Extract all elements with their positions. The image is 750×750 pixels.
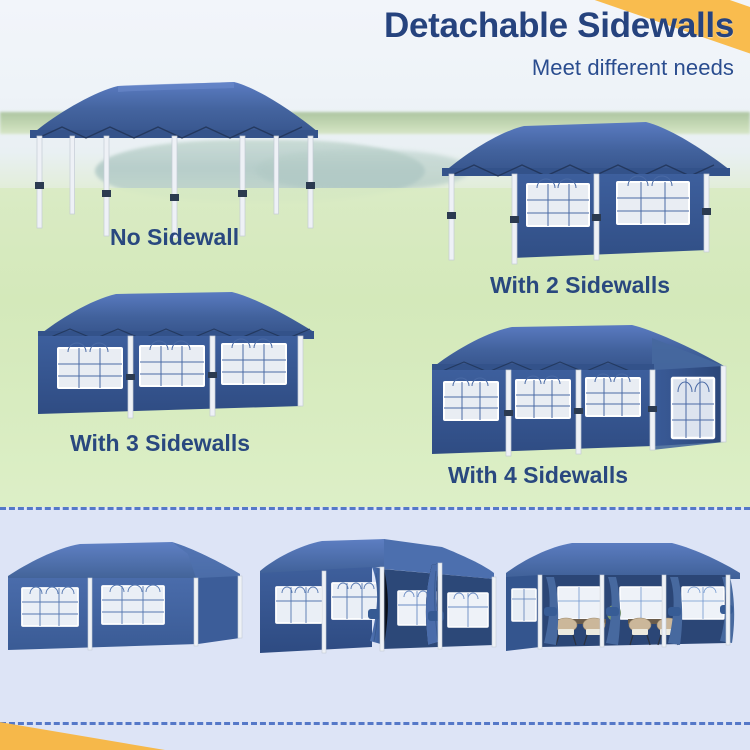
label-3-sidewalls: With 3 Sidewalls [70,430,250,457]
tent-no-sidewall [22,78,342,238]
bottom-panel: With 6 Sidewalls (2 zippered sidewalls c… [0,507,750,750]
tent-2-sidewalls [432,118,742,268]
tent-3-sidewalls [32,288,322,428]
photo-section: Detachable Sidewalls Meet different need… [0,0,750,507]
tent-6-sidewalls-enclosed [2,540,247,662]
infographic-root: Detachable Sidewalls Meet different need… [0,0,750,750]
label-4-sidewalls: With 4 Sidewalls [448,462,628,489]
divider-top-dashed [0,507,750,510]
label-no-sidewall: No Sidewall [110,224,239,251]
label-2-sidewalls: With 2 Sidewalls [490,272,670,299]
tent-4-sidewalls [424,322,744,470]
tent-6-sidewalls-zippered [252,537,500,665]
divider-bottom-dashed [0,722,750,725]
page-title: Detachable Sidewalls [0,6,734,46]
tent-6-sidewalls-rolled-up [496,539,748,665]
